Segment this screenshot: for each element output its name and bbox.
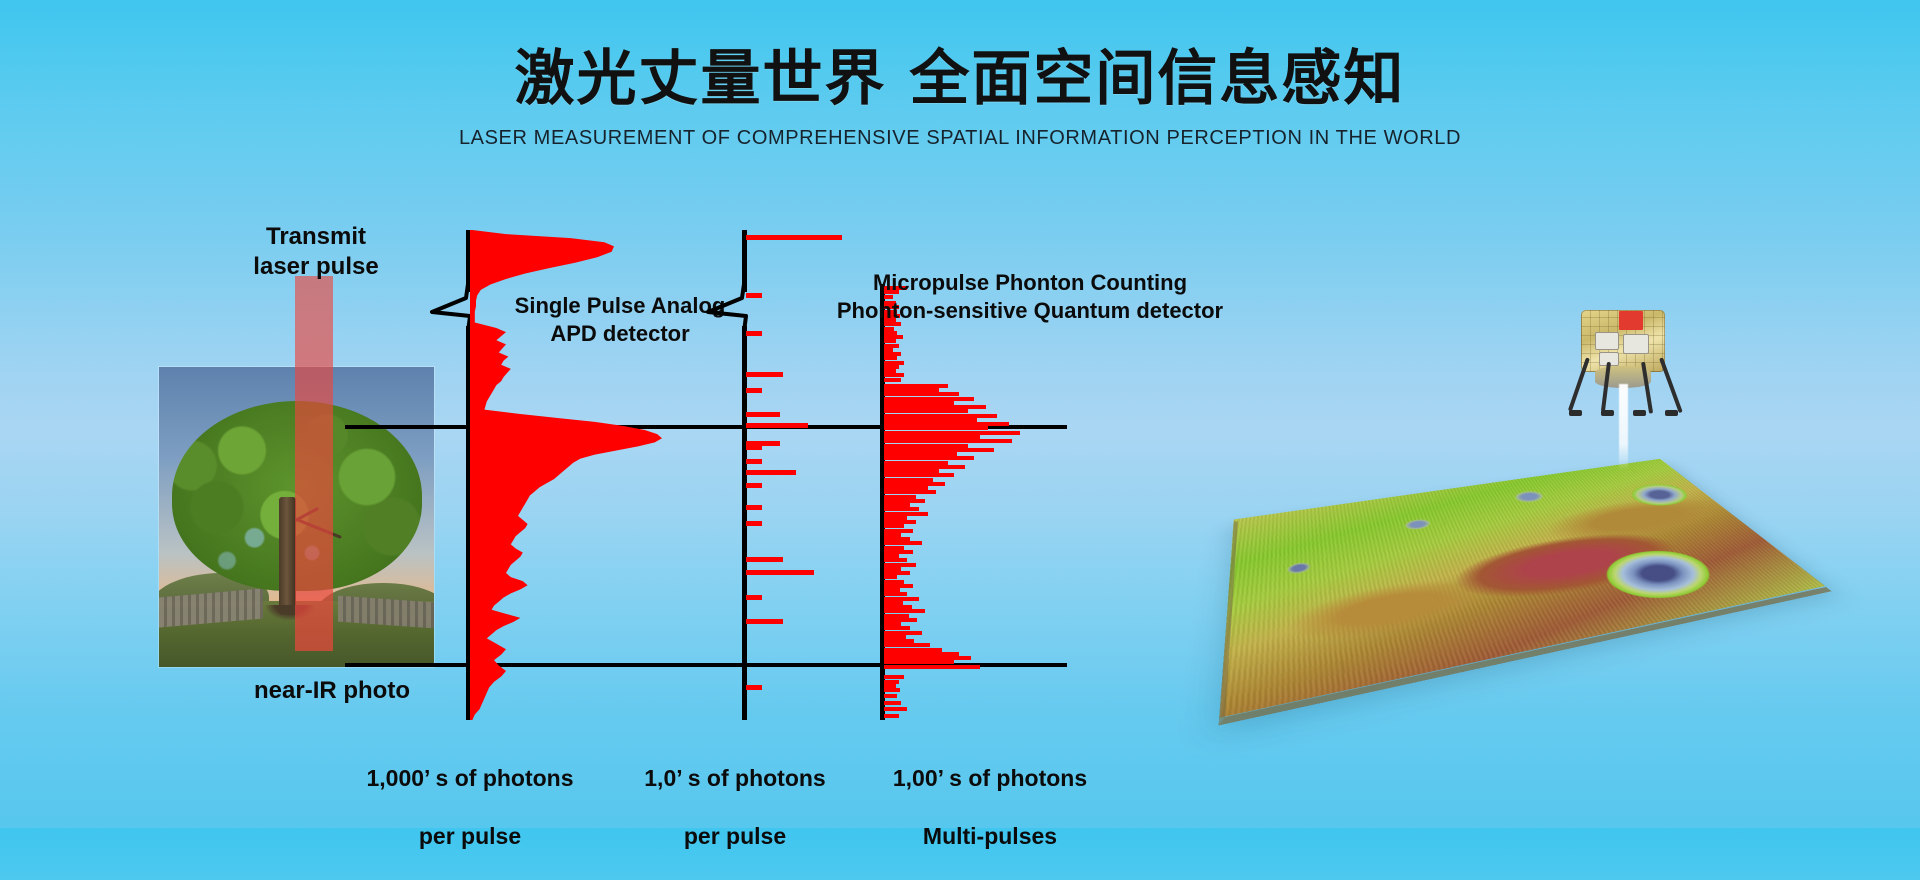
photon-tick	[746, 412, 780, 417]
photon-tick	[746, 388, 762, 393]
lander-panel	[1623, 334, 1649, 354]
photon-tick	[746, 521, 762, 526]
transmit-laser-pulse-label: Transmit laser pulse	[216, 222, 416, 282]
lander-foot	[1665, 410, 1678, 416]
photon-bar	[884, 714, 899, 718]
photon-tick	[746, 505, 762, 510]
caption-single-pulse: 1,000’ s of photons per pulse	[340, 735, 600, 880]
page-title: 激光丈量世界 全面空间信息感知	[0, 48, 1920, 111]
photon-tick	[746, 445, 762, 450]
lander-panel	[1595, 332, 1619, 350]
photo-tree-trunk	[279, 497, 296, 615]
laser-altimeter-beam	[1619, 384, 1628, 470]
photon-tick	[746, 470, 796, 475]
photon-tick	[746, 423, 808, 428]
waveform-panel-micropulse-photon-counting	[880, 284, 1070, 720]
terrain-edge	[1218, 461, 1831, 725]
lander-leg	[1659, 357, 1683, 413]
lidar-terrain-scene	[1195, 330, 1835, 760]
photon-bar	[884, 688, 900, 692]
near-ir-photo-label: near-IR photo	[212, 676, 452, 706]
photon-bar	[884, 694, 897, 698]
lander-foot	[1601, 410, 1614, 416]
page-subtitle: LASER MEASUREMENT OF COMPREHENSIVE SPATI…	[0, 127, 1920, 150]
photon-tick	[746, 595, 762, 600]
caption-sparse-photon: 1,0’ s of photons per pulse	[620, 735, 850, 880]
caption-single-pulse-line2: per pulse	[340, 822, 600, 851]
photon-tick	[746, 459, 762, 464]
lunar-lander	[1567, 310, 1679, 430]
lander-flag-icon	[1619, 311, 1643, 330]
caption-micropulse: 1,00’ s of photons Multi-pulses	[870, 735, 1110, 880]
header: 激光丈量世界 全面空间信息感知 LASER MEASUREMENT OF COM…	[0, 0, 1920, 150]
caption-single-pulse-line1: 1,000’ s of photons	[340, 764, 600, 793]
poster-canvas: 激光丈量世界 全面空间信息感知 LASER MEASUREMENT OF COM…	[0, 0, 1920, 828]
caption-micropulse-line1: 1,00’ s of photons	[870, 764, 1110, 793]
photon-tick	[746, 293, 762, 298]
photon-tick	[746, 235, 842, 240]
micropulse-photon-label: Micropulse Phonton Counting Phonton-sens…	[820, 269, 1240, 324]
photon-tick	[746, 685, 762, 690]
panel3-photon-bars	[884, 284, 1070, 720]
photon-bar	[884, 378, 901, 382]
photon-bar	[884, 665, 980, 669]
photon-bar	[884, 701, 901, 705]
photon-tick	[746, 372, 783, 377]
caption-sparse-photon-line1: 1,0’ s of photons	[620, 764, 850, 793]
lander-leg	[1568, 357, 1590, 411]
lander-foot	[1569, 410, 1582, 416]
transmit-laser-beam	[295, 276, 333, 651]
photon-tick	[746, 570, 814, 575]
photon-tick	[746, 331, 762, 336]
caption-sparse-photon-line2: per pulse	[620, 822, 850, 851]
photon-tick	[746, 557, 783, 562]
photon-bar	[884, 707, 907, 711]
caption-micropulse-line2: Multi-pulses	[870, 822, 1110, 851]
lander-foot	[1633, 410, 1646, 416]
photon-tick	[746, 619, 783, 624]
photon-tick	[746, 483, 762, 488]
